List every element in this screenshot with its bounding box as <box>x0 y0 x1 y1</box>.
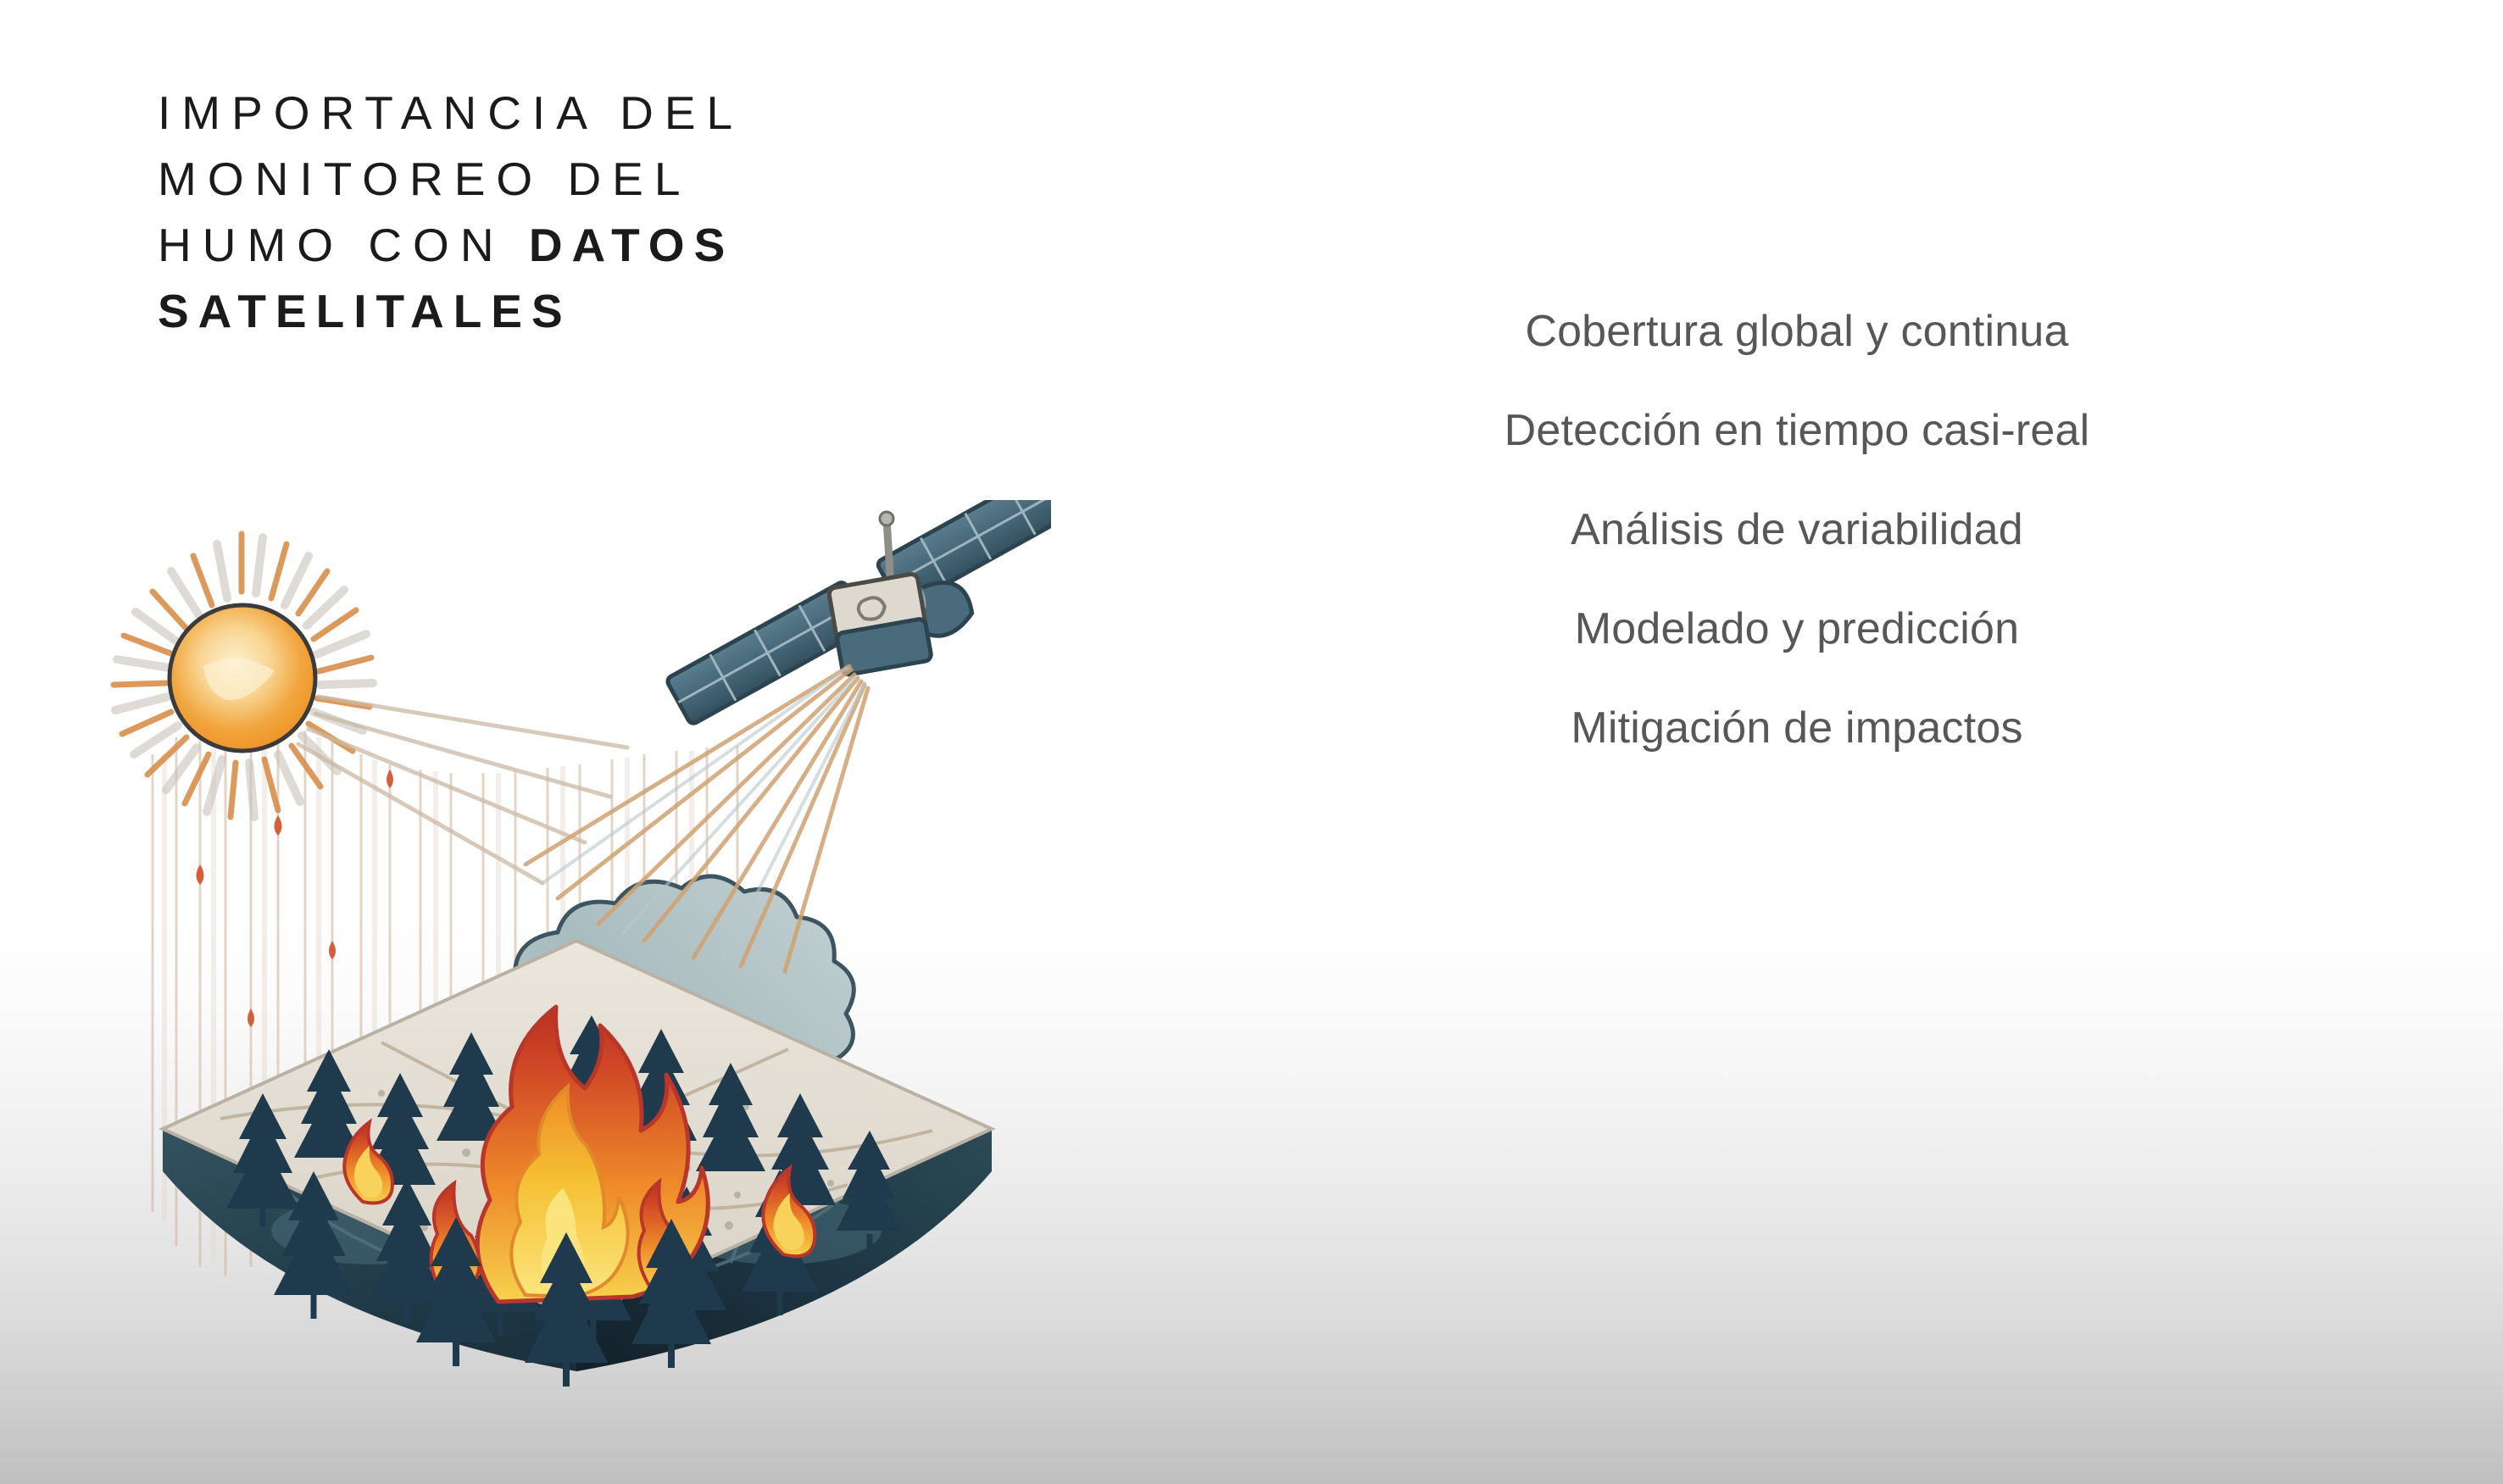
title-line-3-light: HUMO CON <box>158 219 529 271</box>
list-item: Cobertura global y continua <box>1373 305 2221 358</box>
title-line-3-bold: DATOS <box>529 219 734 271</box>
wildfire-monitoring-illustration <box>102 500 1051 1407</box>
feature-list: Cobertura global y continua Detección en… <box>1373 305 2221 754</box>
title-line-4: SATELITALES <box>158 278 1217 344</box>
title-line-3: HUMO CON DATOS <box>158 212 1217 278</box>
list-item: Análisis de variabilidad <box>1373 503 2221 556</box>
title-line-1: IMPORTANCIA DEL <box>158 80 1217 146</box>
list-item: Modelado y predicción <box>1373 603 2221 655</box>
title-line-2: MONITOREO DEL <box>158 146 1217 212</box>
list-item: Detección en tiempo casi-real <box>1373 404 2221 457</box>
slide-canvas: IMPORTANCIA DEL MONITOREO DEL HUMO CON D… <box>0 0 2503 1484</box>
list-item: Mitigación de impactos <box>1373 702 2221 754</box>
page-title: IMPORTANCIA DEL MONITOREO DEL HUMO CON D… <box>158 80 1217 344</box>
